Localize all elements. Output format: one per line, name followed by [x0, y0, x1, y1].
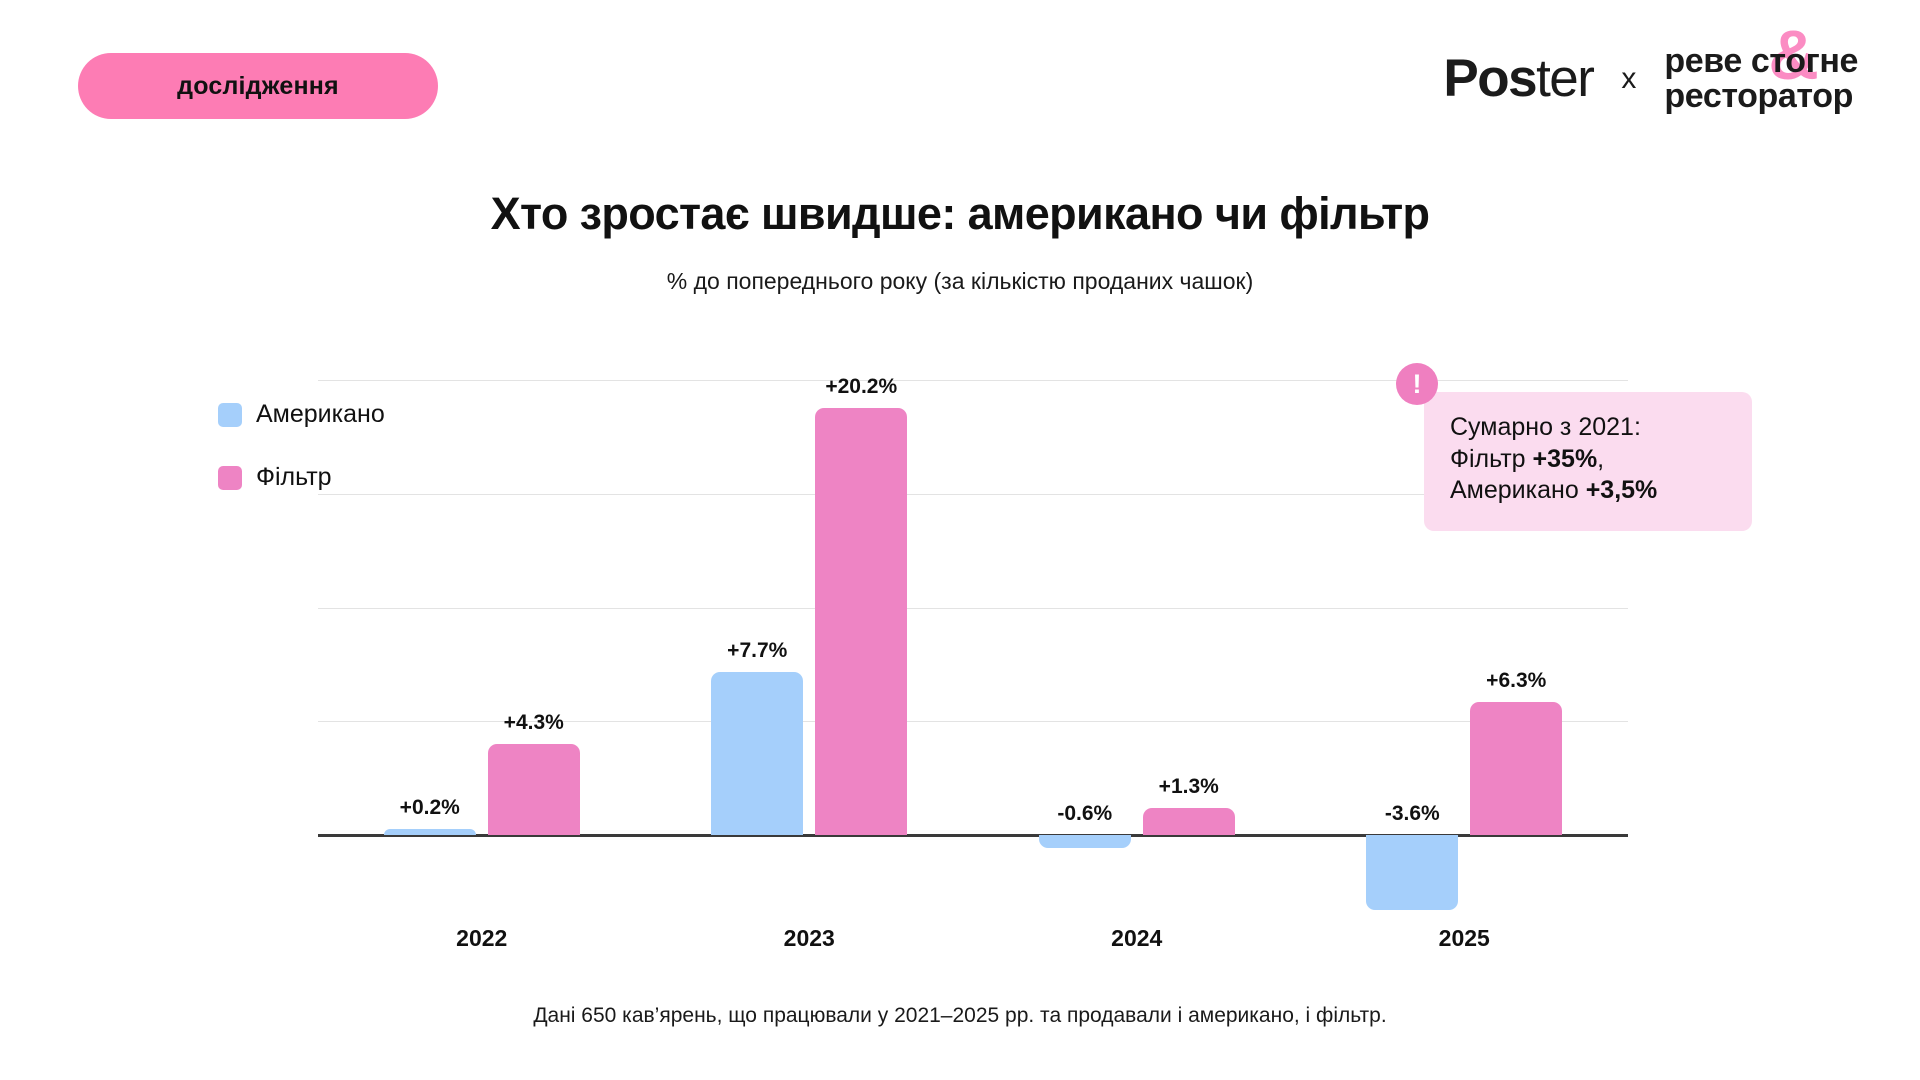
brand-separator: x	[1619, 62, 1638, 96]
exclamation-icon: !	[1396, 363, 1438, 405]
legend-swatch-americano	[218, 403, 242, 427]
bar-value-label: +1.3%	[1159, 775, 1219, 799]
bar-filter-2023[interactable]: +20.2%	[815, 408, 907, 835]
page-title: Хто зростає швидше: американо чи фільтр	[0, 188, 1920, 240]
x-axis-label-2025: 2025	[1301, 925, 1629, 952]
bar-group-2022: +0.2%+4.3%	[318, 380, 646, 835]
bar-filter-2025[interactable]: +6.3%	[1470, 702, 1562, 835]
bar-value-label: -3.6%	[1385, 802, 1440, 826]
bar-filter-2022[interactable]: +4.3%	[488, 744, 580, 835]
callout-line-3-value: +3,5%	[1586, 476, 1658, 504]
x-axis-label-2024: 2024	[973, 925, 1301, 952]
research-badge: дослідження	[78, 53, 438, 119]
footnote: Дані 650 кав’ярень, що працювали у 2021–…	[0, 1004, 1920, 1028]
bar-value-label: +6.3%	[1486, 669, 1546, 693]
partner-logo: & реве стогне ресторатор	[1664, 44, 1858, 113]
poster-logo-bold: Pos	[1443, 49, 1536, 108]
bar-filter-2024[interactable]: +1.3%	[1143, 808, 1235, 836]
callout-line-2: Фільтр +35%,	[1450, 444, 1726, 476]
bar-value-label: +4.3%	[504, 711, 564, 735]
bar-value-label: +7.7%	[727, 639, 787, 663]
x-axis-labels: 2022202320242025	[318, 925, 1628, 952]
page-subtitle: % до попереднього року (за кількістю про…	[0, 268, 1920, 295]
bar-value-label: +0.2%	[400, 796, 460, 820]
callout-line-2-value: +35%	[1533, 445, 1598, 473]
callout-line-3-prefix: Американо	[1450, 476, 1586, 504]
bar-americano-2022[interactable]: +0.2%	[384, 829, 476, 835]
poster-logo-regular: ter	[1536, 49, 1593, 108]
partner-logo-line2: ресторатор	[1664, 79, 1858, 114]
research-badge-label: дослідження	[177, 72, 339, 101]
x-axis-label-2022: 2022	[318, 925, 646, 952]
callout-line-1: Сумарно з 2021:	[1450, 412, 1726, 444]
x-axis-label-2023: 2023	[646, 925, 974, 952]
poster-logo: Poster	[1443, 52, 1593, 105]
bar-group-2023: +7.7%+20.2%	[646, 380, 974, 835]
brand-bar: Poster x & реве стогне ресторатор	[1443, 44, 1858, 113]
bar-americano-2023[interactable]: +7.7%	[711, 672, 803, 835]
bar-americano-2024[interactable]: -0.6%	[1039, 835, 1131, 848]
summary-callout: Сумарно з 2021: Фільтр +35%, Американо +…	[1424, 392, 1752, 531]
callout-line-2-suffix: ,	[1597, 445, 1604, 473]
bar-value-label: +20.2%	[825, 375, 897, 399]
bar-americano-2025[interactable]: -3.6%	[1366, 835, 1458, 910]
callout-line-2-prefix: Фільтр	[1450, 445, 1533, 473]
bar-value-label: -0.6%	[1057, 802, 1112, 826]
callout-line-3: Американо +3,5%	[1450, 475, 1726, 507]
bar-group-2024: -0.6%+1.3%	[973, 380, 1301, 835]
legend-swatch-filter	[218, 466, 242, 490]
partner-logo-line1: реве стогне	[1664, 44, 1858, 79]
